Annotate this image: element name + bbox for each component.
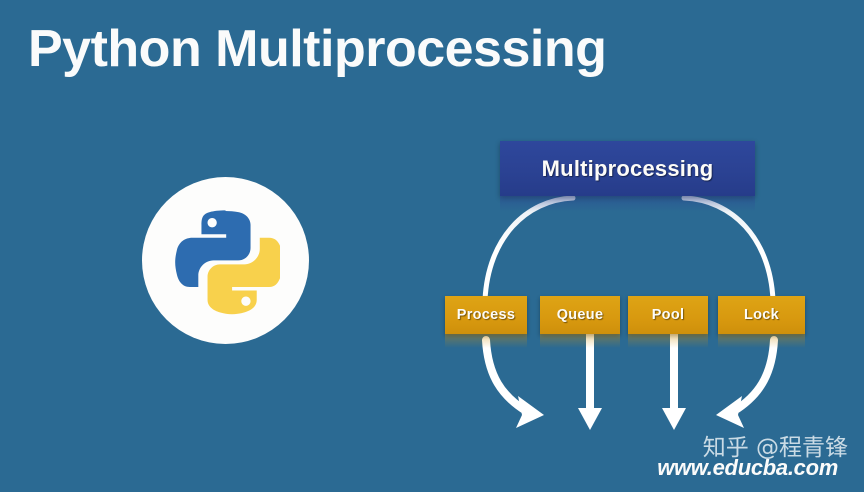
node-pool-label: Pool: [652, 307, 685, 323]
python-logo-glyph: [172, 207, 280, 315]
page-title: Python Multiprocessing: [28, 22, 606, 77]
python-logo: [142, 177, 309, 344]
node-queue-label: Queue: [557, 307, 604, 323]
node-pool[interactable]: Pool: [628, 296, 708, 334]
node-process-label: Process: [457, 307, 516, 323]
node-process[interactable]: Process: [445, 296, 527, 334]
node-lock[interactable]: Lock: [718, 296, 805, 334]
node-queue[interactable]: Queue: [540, 296, 620, 334]
multiprocessing-diagram: Multiprocessing Process Queue Pool Lock: [430, 128, 850, 448]
slide-canvas: Python Multiprocessing: [0, 0, 864, 492]
node-multiprocessing-label: Multiprocessing: [542, 156, 714, 182]
educba-watermark: www.educba.com: [657, 455, 838, 481]
node-lock-label: Lock: [744, 307, 779, 323]
node-multiprocessing[interactable]: Multiprocessing: [500, 141, 755, 196]
